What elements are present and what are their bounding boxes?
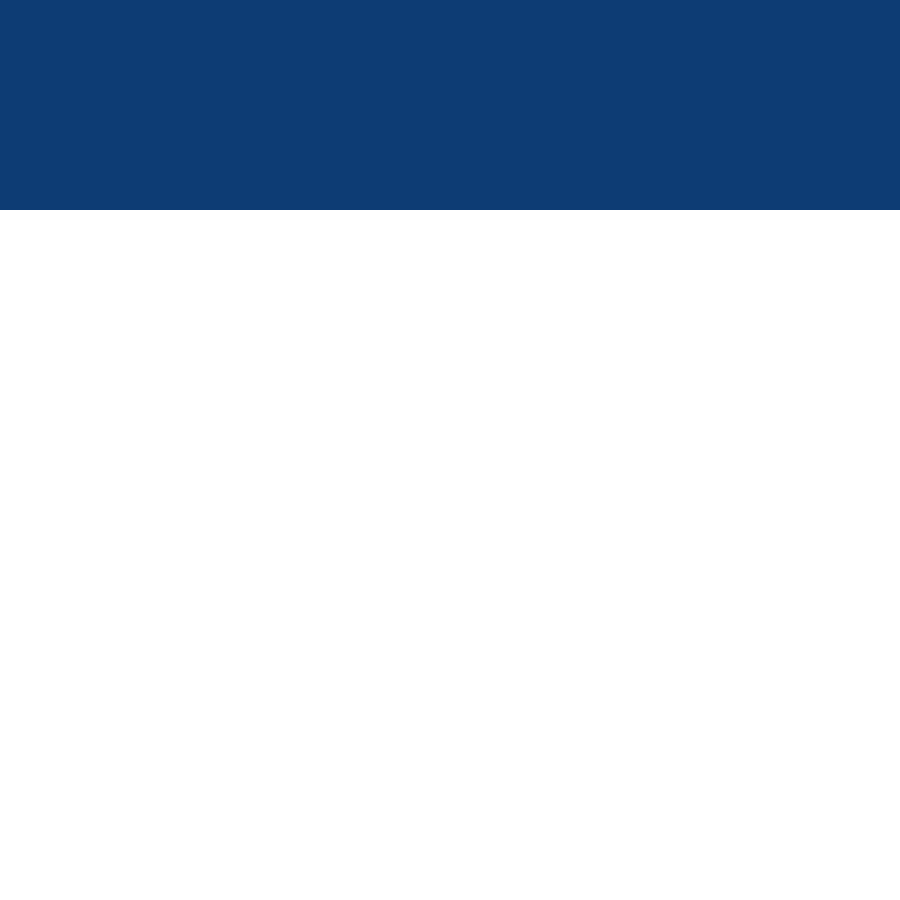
food-bowl-4 [485, 635, 865, 885]
transition-step-3 [0, 555, 450, 900]
food-bowl-2 [485, 290, 865, 540]
transition-steps-grid [0, 210, 900, 900]
transition-step-2 [450, 210, 900, 555]
food-bowl-3 [35, 635, 415, 885]
transition-step-1 [0, 210, 450, 555]
food-bowl-1 [35, 290, 415, 540]
page-header [0, 0, 900, 210]
transition-step-4 [450, 555, 900, 900]
